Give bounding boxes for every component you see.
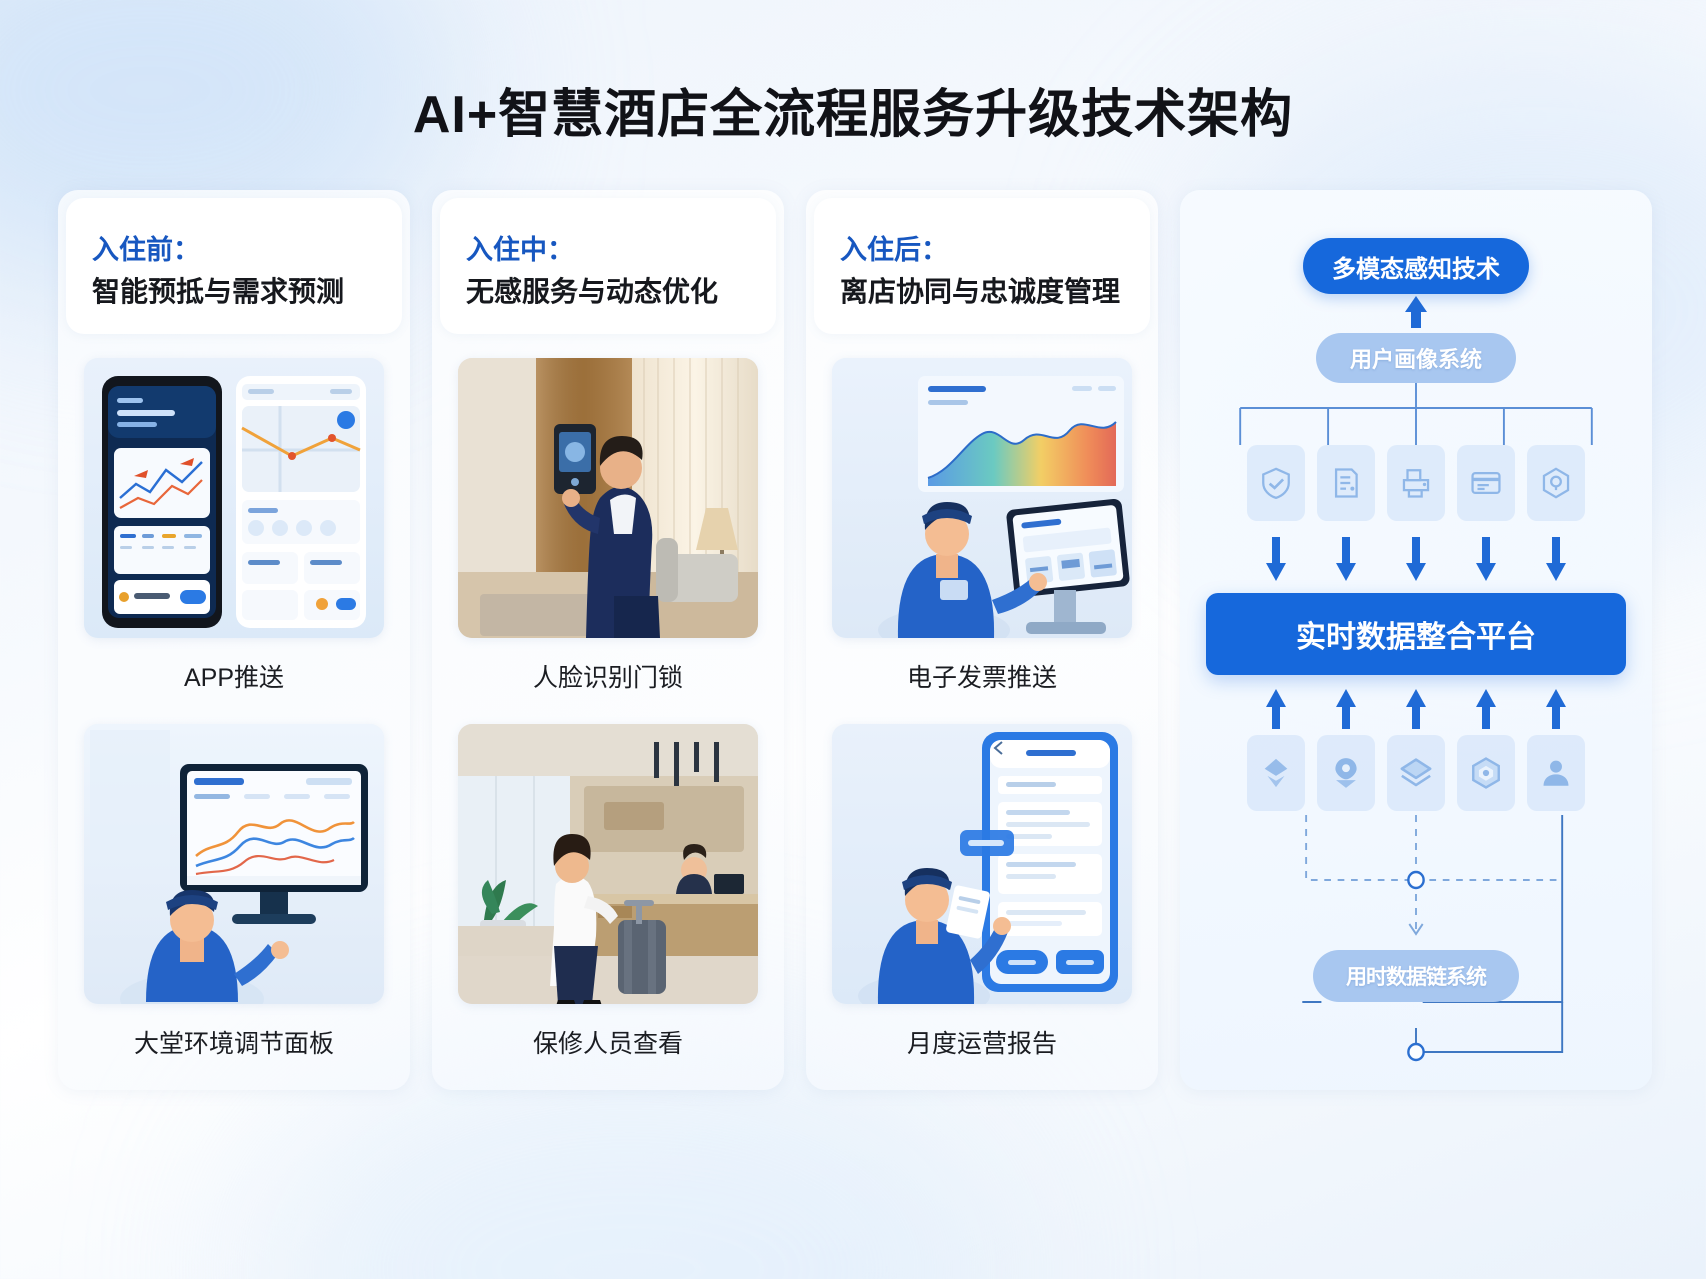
stage-title: 无感服务与动态优化 — [466, 274, 750, 309]
stage-header: 入住前： 智能预抵与需求预测 — [66, 198, 402, 334]
node-data-chain-system[interactable]: 用时数据链系统 — [1313, 950, 1519, 1002]
cell-caption: APP推送 — [84, 638, 384, 700]
stage-cell: 人脸识别门锁 — [432, 334, 784, 700]
stage-header: 入住中： 无感服务与动态优化 — [440, 198, 776, 334]
infographic-page: AI+智慧酒店全流程服务升级技术架构 入住前： 智能预抵与需求预测 — [0, 0, 1706, 1279]
thumbnail-monthly-report-phone[interactable] — [832, 724, 1132, 1004]
cell-caption: 电子发票推送 — [832, 638, 1132, 700]
cell-caption: 月度运营报告 — [832, 1004, 1132, 1066]
arrow-down-icon — [1265, 535, 1287, 583]
stage-cell: 电子发票推送 — [806, 334, 1158, 700]
cell-caption: 人脸识别门锁 — [458, 638, 758, 700]
arrow-down-icon — [1335, 535, 1357, 583]
location-tag-icon[interactable] — [1247, 735, 1305, 811]
cell-caption: 大堂环境调节面板 — [84, 1004, 384, 1066]
location-pin-icon[interactable] — [1317, 735, 1375, 811]
thumbnail-lobby-control-panel[interactable] — [84, 724, 384, 1004]
stage-cell: 保修人员查看 — [432, 700, 784, 1066]
user-profile-icon[interactable] — [1527, 735, 1585, 811]
thumbnail-phone-app-push[interactable] — [84, 358, 384, 638]
arrow-up-icon — [1403, 294, 1429, 330]
stage-cell: 月度运营报告 — [806, 700, 1158, 1066]
node-realtime-data-platform[interactable]: 实时数据整合平台 — [1206, 593, 1626, 675]
stage-title: 智能预抵与需求预测 — [92, 274, 376, 309]
arrow-up-icon — [1545, 688, 1567, 730]
arrow-up-icon — [1405, 688, 1427, 730]
stage-column-pre-checkin: 入住前： 智能预抵与需求预测 — [58, 190, 410, 1090]
card-text-icon[interactable] — [1457, 445, 1515, 521]
node-multimodal-perception[interactable]: 多模态感知技术 — [1303, 238, 1529, 294]
cell-caption: 保修人员查看 — [458, 1004, 758, 1066]
stage-column-post-checkout: 入住后： 离店协同与忠诚度管理 — [806, 190, 1158, 1090]
source-icon-row — [1180, 735, 1652, 811]
cube-layer-icon[interactable] — [1387, 735, 1445, 811]
shield-lock-icon[interactable] — [1527, 445, 1585, 521]
document-list-icon[interactable] — [1317, 445, 1375, 521]
sensor-icon-row — [1180, 445, 1652, 521]
arrow-down-icon — [1475, 535, 1497, 583]
hexagon-shield-icon[interactable] — [1457, 735, 1515, 811]
stage-column-during-checkin: 入住中： 无感服务与动态优化 — [432, 190, 784, 1090]
shield-check-icon[interactable] — [1247, 445, 1305, 521]
architecture-panel: 多模态感知技术 用户画像系统 — [1180, 190, 1652, 1090]
arrow-up-icon — [1475, 688, 1497, 730]
thumbnail-electronic-invoice-kiosk[interactable] — [832, 358, 1132, 638]
page-title: AI+智慧酒店全流程服务升级技术架构 — [0, 72, 1706, 147]
stage-cell: APP推送 — [58, 334, 410, 700]
stage-cell: 大堂环境调节面板 — [58, 700, 410, 1066]
stage-kicker: 入住后： — [840, 234, 1124, 268]
thumbnail-front-desk-checkin[interactable] — [458, 724, 758, 1004]
stage-header: 入住后： 离店协同与忠诚度管理 — [814, 198, 1150, 334]
content-board: 入住前： 智能预抵与需求预测 — [58, 190, 1652, 1100]
thumbnail-face-recognition-lock[interactable] — [458, 358, 758, 638]
node-user-profile-system[interactable]: 用户画像系统 — [1316, 333, 1516, 383]
arrows-up-row — [1180, 688, 1652, 730]
arrow-down-icon — [1545, 535, 1567, 583]
stage-kicker: 入住中： — [466, 234, 750, 268]
printer-icon[interactable] — [1387, 445, 1445, 521]
arrow-down-icon — [1405, 535, 1427, 583]
stage-title: 离店协同与忠诚度管理 — [840, 274, 1124, 309]
stage-kicker: 入住前： — [92, 234, 376, 268]
arrow-up-icon — [1335, 688, 1357, 730]
arrows-down-row — [1180, 535, 1652, 583]
arrow-up-icon — [1265, 688, 1287, 730]
